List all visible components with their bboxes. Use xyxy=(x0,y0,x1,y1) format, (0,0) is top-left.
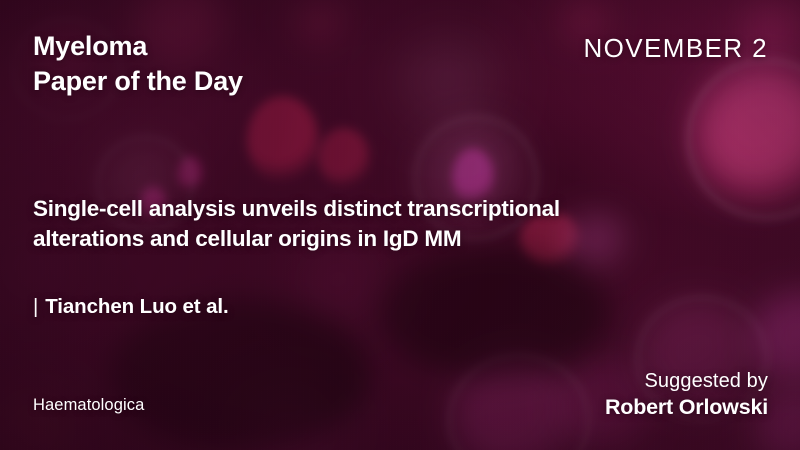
date-label: NOVEMBER 2 xyxy=(584,33,769,64)
authors-line: |Tianchen Luo et al. xyxy=(33,295,229,319)
brand-title: Myeloma Paper of the Day xyxy=(33,29,243,98)
myeloma-paper-of-the-day-card: Myeloma Paper of the Day NOVEMBER 2 Sing… xyxy=(0,0,800,450)
author-separator-bar: | xyxy=(33,295,45,318)
card-content: Myeloma Paper of the Day NOVEMBER 2 Sing… xyxy=(0,0,800,450)
paper-title: Single-cell analysis unveils distinct tr… xyxy=(33,194,673,254)
suggested-by-label: Suggested by xyxy=(605,369,768,394)
suggested-by-block: Suggested by Robert Orlowski xyxy=(605,369,768,420)
journal-name: Haematologica xyxy=(33,396,144,415)
suggested-by-name: Robert Orlowski xyxy=(605,394,768,421)
authors-names: Tianchen Luo et al. xyxy=(45,295,228,318)
